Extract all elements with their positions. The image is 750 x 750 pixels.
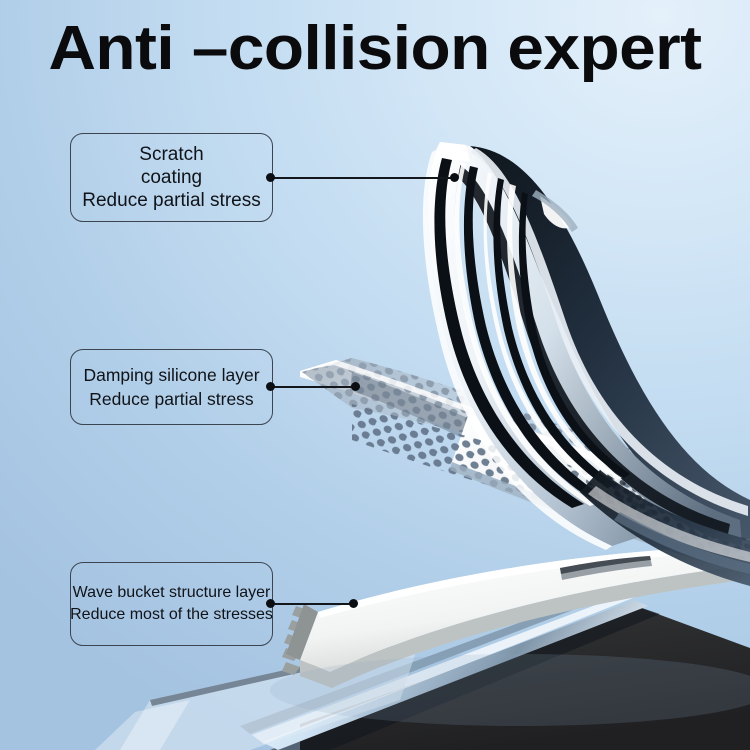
connector-dot-start — [266, 599, 275, 608]
infographic-canvas: Anti –collision expert Scratch coating R… — [0, 0, 750, 750]
connector-dot-end — [450, 173, 459, 182]
callout-line: Scratch — [139, 143, 203, 166]
connector-dot-start — [266, 382, 275, 391]
connector-line-damping-silicone-layer — [272, 386, 356, 388]
callout-line: coating — [141, 166, 202, 189]
callout-line: Damping silicone layer — [83, 363, 259, 387]
callout-wave-bucket-structure-layer[interactable]: Wave bucket structure layer Reduce most … — [70, 562, 273, 646]
connector-line-wave-bucket-structure-layer — [272, 603, 354, 605]
callout-scratch-coating[interactable]: Scratch coating Reduce partial stress — [70, 133, 273, 222]
callout-line: Reduce most of the stresses — [70, 604, 273, 626]
callout-line: Reduce partial stress — [89, 387, 253, 411]
callout-line: Wave bucket structure layer — [73, 582, 271, 604]
callout-line: Reduce partial stress — [82, 189, 260, 212]
connector-dot-start — [266, 173, 275, 182]
callout-damping-silicone-layer[interactable]: Damping silicone layer Reduce partial st… — [70, 349, 273, 425]
page-title: Anti –collision expert — [0, 14, 750, 84]
connector-dot-end — [351, 382, 360, 391]
connector-line-scratch-coating — [272, 177, 455, 179]
connector-dot-end — [349, 599, 358, 608]
